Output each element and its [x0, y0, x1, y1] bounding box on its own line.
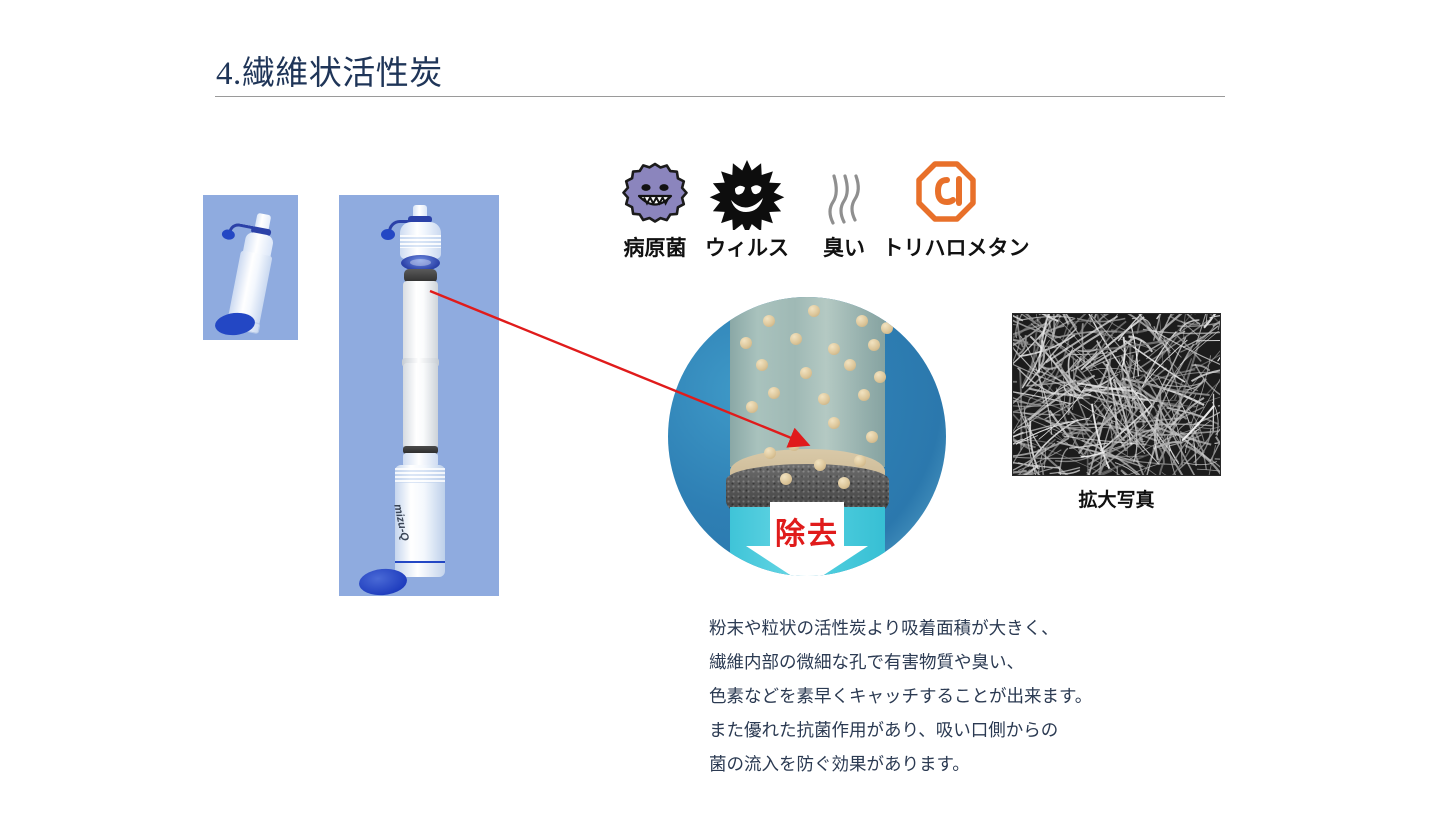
contaminant-particle: [788, 439, 800, 451]
title-divider: [215, 96, 1225, 97]
contaminant-particle: [866, 431, 878, 443]
contaminant-particle: [780, 473, 792, 485]
germ-icon: [609, 160, 701, 230]
filtration-circle-illustration: 除去: [668, 297, 946, 576]
description-line: また優れた抗菌作用があり、吸い口側からの: [709, 713, 1129, 747]
contaminant-particle: [764, 447, 776, 459]
contaminant-particle: [881, 322, 893, 334]
contaminant-particle: [828, 343, 840, 355]
contaminant-particle: [740, 337, 752, 349]
contaminant-particle: [838, 477, 850, 489]
contaminant-particle: [808, 305, 820, 317]
contaminant-particle: [856, 315, 868, 327]
product-photo-thumbnail: [203, 195, 298, 340]
contaminant-particle: [746, 401, 758, 413]
fiber-micrograph-image: [1012, 313, 1221, 476]
contaminant-item-smell: 臭い: [803, 160, 885, 262]
contaminant-label: トリハロメタン: [877, 232, 1035, 262]
chlorine-octagon-icon: [877, 160, 1035, 230]
bottle-illustration-large: mizu-Q: [339, 195, 499, 596]
contaminant-particle: [854, 455, 866, 467]
micrograph-caption: 拡大写真: [1012, 485, 1221, 512]
description-text: 粉末や粒状の活性炭より吸着面積が大きく、 繊維内部の微細な孔で有害物質や臭い、 …: [709, 611, 1129, 781]
contaminant-label: 病原菌: [609, 232, 701, 262]
fiber-mesh: [1013, 314, 1220, 475]
contaminant-particle: [790, 333, 802, 345]
contaminant-icon-row: 病原菌 ウィルス 臭い: [605, 160, 1035, 270]
smell-icon: [803, 160, 885, 230]
description-line: 色素などを素早くキャッチすることが出来ます。: [709, 679, 1129, 713]
bottle-lid: [358, 567, 408, 596]
contaminant-particle: [828, 417, 840, 429]
cartridge-lower: [403, 363, 438, 449]
virus-icon: [699, 160, 795, 230]
contaminant-particle: [800, 367, 812, 379]
description-line: 菌の流入を防ぐ効果があります。: [709, 747, 1129, 781]
remove-label: 除去: [668, 509, 946, 553]
contaminant-particle: [874, 371, 886, 383]
description-line: 粉末や粒状の活性炭より吸着面積が大きく、: [709, 611, 1129, 645]
contaminant-particle: [814, 459, 826, 471]
page-title: 4.繊維状活性炭: [216, 46, 443, 94]
contaminant-label: ウィルス: [699, 232, 795, 262]
contaminant-particle: [858, 389, 870, 401]
contaminant-item-germ: 病原菌: [609, 160, 701, 262]
product-photo-exploded: mizu-Q: [339, 195, 499, 596]
cartridge-upper: [403, 281, 438, 365]
contaminant-item-trihalomethane: トリハロメタン: [877, 160, 1035, 262]
contaminant-particle: [763, 315, 775, 327]
contaminant-particle: [756, 359, 768, 371]
bottle-illustration-small: [203, 195, 298, 340]
exploded-bottle: mizu-Q: [383, 203, 457, 593]
description-line: 繊維内部の微細な孔で有害物質や臭い、: [709, 645, 1129, 679]
contaminant-particle: [768, 387, 780, 399]
cap-tether-knob: [381, 229, 395, 240]
contaminant-item-virus: ウィルス: [699, 160, 795, 262]
contaminant-particle: [818, 393, 830, 405]
contaminant-particle: [868, 339, 880, 351]
contaminant-particle: [844, 359, 856, 371]
slide-canvas: 4.繊維状活性炭: [0, 0, 1445, 813]
fiber-micrograph-figure: 拡大写真: [1012, 313, 1221, 476]
bottle-shoulder: [400, 222, 441, 259]
contaminant-label: 臭い: [803, 232, 885, 262]
